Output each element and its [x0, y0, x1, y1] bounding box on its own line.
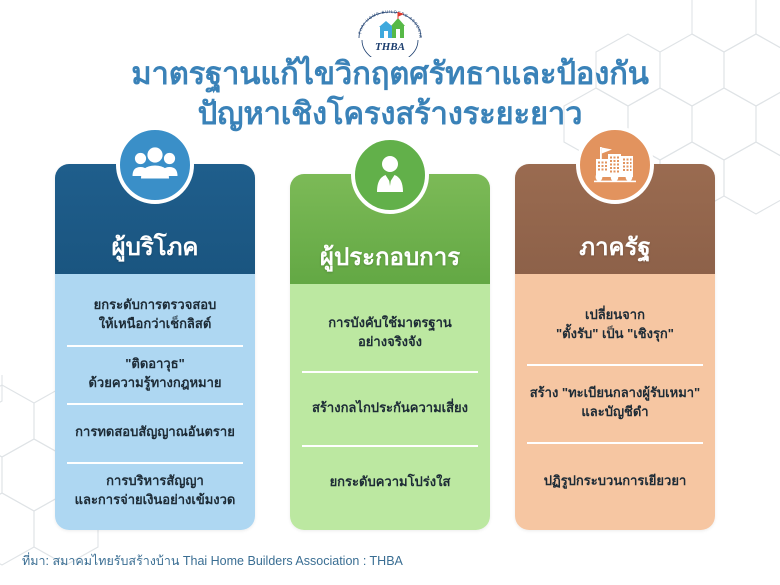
item-line-2: และบัญชีดำ [581, 404, 648, 419]
businessman-icon [351, 136, 429, 214]
item-line-1: ยกระดับความโปร่งใส [330, 473, 451, 492]
source-footer: ที่มา: สมาคมไทยรับสร้างบ้าน Thai Home Bu… [22, 551, 403, 571]
item-line-2: "ตั้งรับ" เป็น "เชิงรุก" [556, 326, 674, 341]
item-line-2: อย่างจริงจัง [358, 334, 422, 349]
list-item[interactable]: สร้างกลไกประกันความเสี่ยง [302, 371, 478, 446]
list-item[interactable]: การทดสอบสัญญาณอันตราย [67, 403, 243, 462]
item-line-1: สร้าง "ทะเบียนกลางผู้รับเหมา" [530, 385, 700, 400]
list-item[interactable]: ยกระดับการตรวจสอบ ให้เหนือกว่าเช็กลิสต์ [67, 288, 243, 345]
item-line-1: เปลี่ยนจาก [585, 307, 645, 322]
list-item[interactable]: ปฏิรูปกระบวนการเยียวยา [527, 442, 703, 520]
columns-container: ผู้บริโภค ยกระดับการตรวจสอบ ให้เหนือกว่า… [0, 140, 780, 540]
list-item[interactable]: การบังคับใช้มาตรฐาน อย่างจริงจัง [302, 298, 478, 371]
column-heading-entrepreneur: ผู้ประกอบการ [320, 237, 460, 276]
item-line-2: และการจ่ายเงินอย่างเข้มงวด [75, 492, 236, 507]
svg-text:THBA: THBA [375, 41, 405, 53]
list-item[interactable]: "ติดอาวุธ" ด้วยความรู้ทางกฎหมาย [67, 345, 243, 404]
column-consumer[interactable]: ผู้บริโภค ยกระดับการตรวจสอบ ให้เหนือกว่า… [55, 164, 255, 530]
column-body-government: เปลี่ยนจาก "ตั้งรับ" เป็น "เชิงรุก" สร้า… [515, 274, 715, 530]
people-group-icon [116, 126, 194, 204]
item-line-1: การบริหารสัญญา [106, 473, 204, 488]
logo-container: THAI HOME BUILDERS ASSOCIATION THBA [0, 6, 780, 58]
item-line-1: สร้างกลไกประกันความเสี่ยง [312, 399, 468, 418]
list-item[interactable]: การบริหารสัญญา และการจ่ายเงินอย่างเข้มงว… [67, 462, 243, 521]
title-line-2: ปัญหาเชิงโครงสร้างระยะยาว [0, 94, 780, 134]
column-body-entrepreneur: การบังคับใช้มาตรฐาน อย่างจริงจัง สร้างกล… [290, 284, 490, 530]
column-entrepreneur[interactable]: ผู้ประกอบการ การบังคับใช้มาตรฐาน อย่างจร… [290, 174, 490, 530]
government-buildings-icon [576, 126, 654, 204]
column-government[interactable]: ภาครัฐ เปลี่ยนจาก "ตั้งรับ" เป็น "เชิงรุ… [515, 164, 715, 530]
column-heading-government: ภาครัฐ [579, 227, 650, 266]
list-item[interactable]: ยกระดับความโปร่งใส [302, 445, 478, 520]
item-line-1: ปฏิรูปกระบวนการเยียวยา [544, 472, 687, 491]
item-line-2: ด้วยความรู้ทางกฎหมาย [88, 375, 221, 390]
thba-logo: THAI HOME BUILDERS ASSOCIATION THBA [353, 7, 427, 57]
item-line-2: ให้เหนือกว่าเช็กลิสต์ [99, 316, 212, 331]
item-line-1: "ติดอาวุธ" [125, 356, 185, 371]
item-line-1: ยกระดับการตรวจสอบ [94, 297, 217, 312]
item-line-1: การบังคับใช้มาตรฐาน [328, 315, 452, 330]
list-item[interactable]: สร้าง "ทะเบียนกลางผู้รับเหมา" และบัญชีดำ [527, 364, 703, 442]
item-line-1: การทดสอบสัญญาณอันตราย [75, 423, 235, 442]
column-body-consumer: ยกระดับการตรวจสอบ ให้เหนือกว่าเช็กลิสต์ … [55, 274, 255, 530]
title-line-1: มาตรฐานแก้ไขวิกฤตศรัทธาและป้องกัน [0, 54, 780, 94]
list-item[interactable]: เปลี่ยนจาก "ตั้งรับ" เป็น "เชิงรุก" [527, 288, 703, 364]
column-heading-consumer: ผู้บริโภค [112, 227, 199, 266]
page-title: มาตรฐานแก้ไขวิกฤตศรัทธาและป้องกัน ปัญหาเ… [0, 54, 780, 133]
